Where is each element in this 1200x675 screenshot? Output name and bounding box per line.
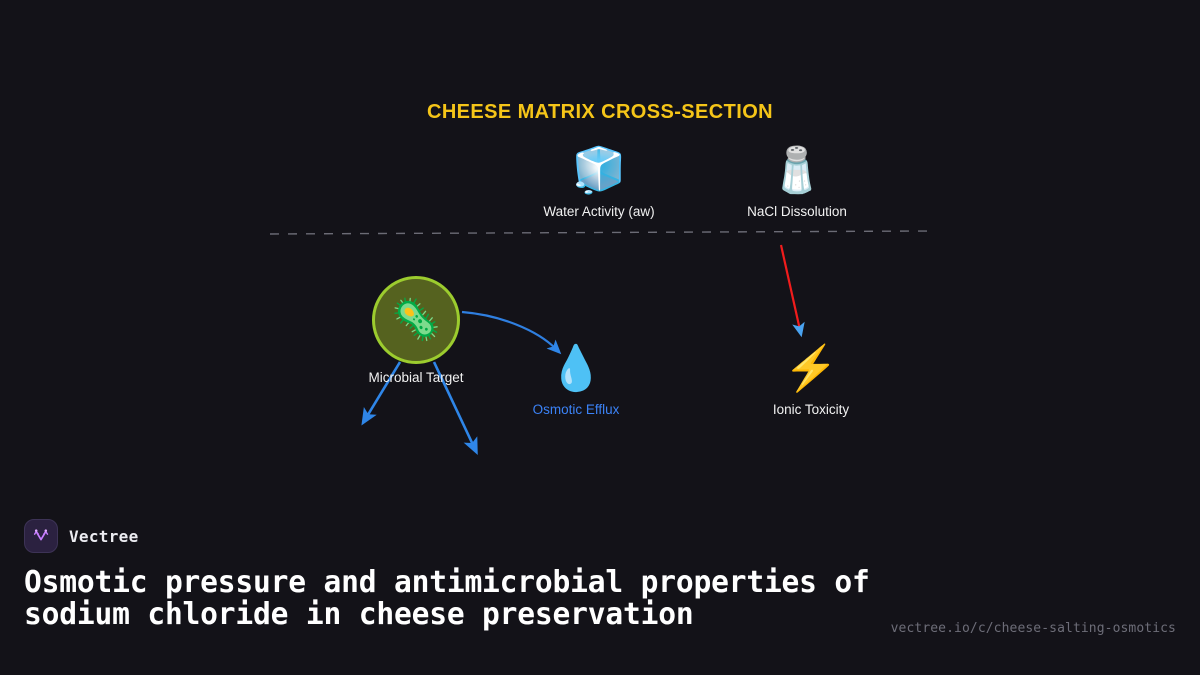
arrow-nacl-to-ionic-toxicity bbox=[781, 245, 800, 330]
node-ionic-toxicity[interactable]: ⚡ Ionic Toxicity bbox=[711, 343, 911, 418]
diagram-vector-layer bbox=[0, 0, 1200, 500]
node-nacl-dissolution[interactable]: 🧂 NaCl Dissolution bbox=[697, 145, 897, 220]
brand-row: Vectree bbox=[24, 518, 1176, 554]
node-label-microbial-target: Microbial Target bbox=[368, 370, 463, 386]
microbe-icon: 🦠 bbox=[391, 297, 441, 343]
droplet-icon: 💧 bbox=[549, 343, 604, 395]
source-url: vectree.io/c/cheese-salting-osmotics bbox=[891, 621, 1176, 636]
ice-cube-icon: 🧊 bbox=[572, 145, 627, 197]
node-label-ionic-toxicity: Ionic Toxicity bbox=[773, 402, 849, 418]
headline: Osmotic pressure and antimicrobial prope… bbox=[24, 567, 897, 631]
node-label-osmotic-efflux: Osmotic Efflux bbox=[533, 402, 620, 418]
footer: Vectree Osmotic pressure and antimicrobi… bbox=[0, 500, 1200, 675]
diagram-title: CHEESE MATRIX CROSS-SECTION bbox=[0, 101, 1200, 124]
node-label-water-activity: Water Activity (aw) bbox=[543, 204, 654, 220]
vectree-branch-logo bbox=[24, 519, 58, 553]
high-voltage-icon: ⚡ bbox=[784, 343, 839, 395]
diagram-canvas: CHEESE MATRIX CROSS-SECTION 🧊 Water Acti… bbox=[0, 0, 1200, 500]
microbial-target-circle: 🦠 bbox=[372, 276, 460, 364]
divider-dashed-line bbox=[270, 231, 930, 234]
brand-name: Vectree bbox=[69, 527, 139, 546]
node-water-activity[interactable]: 🧊 Water Activity (aw) bbox=[499, 145, 699, 220]
node-label-nacl-dissolution: NaCl Dissolution bbox=[747, 204, 847, 220]
node-osmotic-efflux[interactable]: 💧 Osmotic Efflux bbox=[476, 343, 676, 418]
salt-shaker-icon: 🧂 bbox=[770, 145, 825, 197]
